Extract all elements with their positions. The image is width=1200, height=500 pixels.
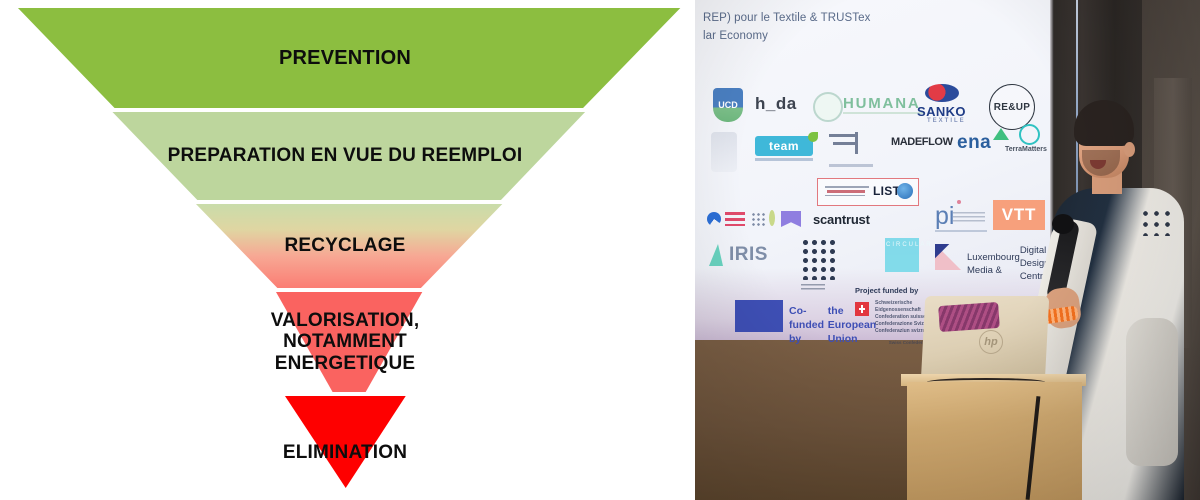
pyramid-tier-elimination: ELIMINATION [0,396,690,488]
speaker-eye-right [1106,136,1113,140]
pi-logo-icon: pi [935,202,954,231]
slide-title-line1: REP) pour le Textile & TRUSTex [703,10,1003,28]
humana-logo-icon: HUMANA [843,95,920,112]
faded-logo-icon [711,132,737,172]
team-logo-icon: team [755,136,813,156]
leaf-shape-icon [769,210,775,226]
eu-flag-icon [735,300,783,332]
pyramid-tier-preparation: PREPARATION EN VUE DU REEMPLOI [0,112,690,200]
speaker-lower-arm [1126,318,1178,466]
screenshot-root: PREVENTION PREPARATION EN VUE DU REEMPLO… [0,0,1200,500]
slide-title: REP) pour le Textile & TRUSTex lar Econo… [703,10,1003,46]
sanko-logo-icon: SANKO [917,104,966,119]
dots-shape-icon [751,212,765,226]
humana-mark-icon [813,92,843,122]
pyramid-tier-prevention: PREVENTION [0,8,690,108]
pyramid-tier-prevention-shape [0,8,690,108]
project-funded-by-label: Project funded by [855,286,918,295]
hda-logo-icon: h_da [755,94,797,114]
podium [907,382,1082,500]
pi-dot-icon [957,200,961,204]
eu-funding-line1: Co-funded by [789,304,828,346]
slide-title-line2: lar Economy [703,28,1003,46]
hp-logo-icon: hp [979,330,1003,354]
pyramid-tier-recyclage: RECYCLAGE [0,204,690,288]
team-underline-icon [755,158,813,161]
crown-shape-icon [781,211,801,227]
dotfigure-caption-icon [801,284,825,292]
fesi-underline-icon [829,164,873,167]
stripes-shape-icon [725,212,745,226]
laptop-cable [927,378,1045,386]
microphone-head-icon [1052,214,1074,234]
iris-sail-icon [709,244,723,266]
ena-logo-icon: ena [957,132,991,154]
laptop-sticker [938,302,1000,332]
scantrust-logo-icon: scantrust [813,212,870,227]
dotfigure-logo-icon [801,238,837,280]
sanko-mark-icon [925,84,959,102]
humana-underline-icon [843,112,925,114]
pacman-shape-icon [707,212,721,226]
pyramid-tier-valorisation-shape [0,292,690,392]
sanko-subtitle: TEXTILE [927,118,966,124]
circular-grid-label: CIRCULAR [886,240,918,270]
waste-hierarchy-pyramid: PREVENTION PREPARATION EN VUE DU REEMPLO… [0,0,690,500]
fesi-mark-icon [829,132,871,162]
ucd-logo-icon: UCD [713,88,743,122]
circular-grid-logo-icon: CIRCULAR [885,238,919,272]
iris-logo-icon: IRIS [729,244,768,266]
pi-lines-icon [953,212,985,222]
eu-funding-label: Co-funded by the European Union [789,304,885,346]
team-leaf-icon [808,132,818,142]
pyramid-tier-preparation-shape [0,112,690,200]
speaker-ear [1124,142,1135,157]
pi-underline-icon [935,230,987,232]
speaker-shoulder-detail [1140,208,1174,236]
speaker-eye-left [1086,136,1093,140]
pyramid-tier-valorisation: VALORISATION, NOTAMMENT ENERGETIQUE [0,292,690,392]
madeflow-logo-icon: MADEFLOW [891,136,953,148]
list-wordmark-icon [825,186,869,196]
pyramid-tier-recyclage-shape [0,204,690,288]
faded-funding-logo-icon [695,306,725,324]
conference-photo: REP) pour le Textile & TRUSTex lar Econo… [695,0,1200,500]
speaker-hair [1074,100,1134,146]
list-orb-icon [897,183,913,199]
pyramid-tier-elimination-shape [0,396,690,488]
swiss-cross-icon [859,305,865,313]
